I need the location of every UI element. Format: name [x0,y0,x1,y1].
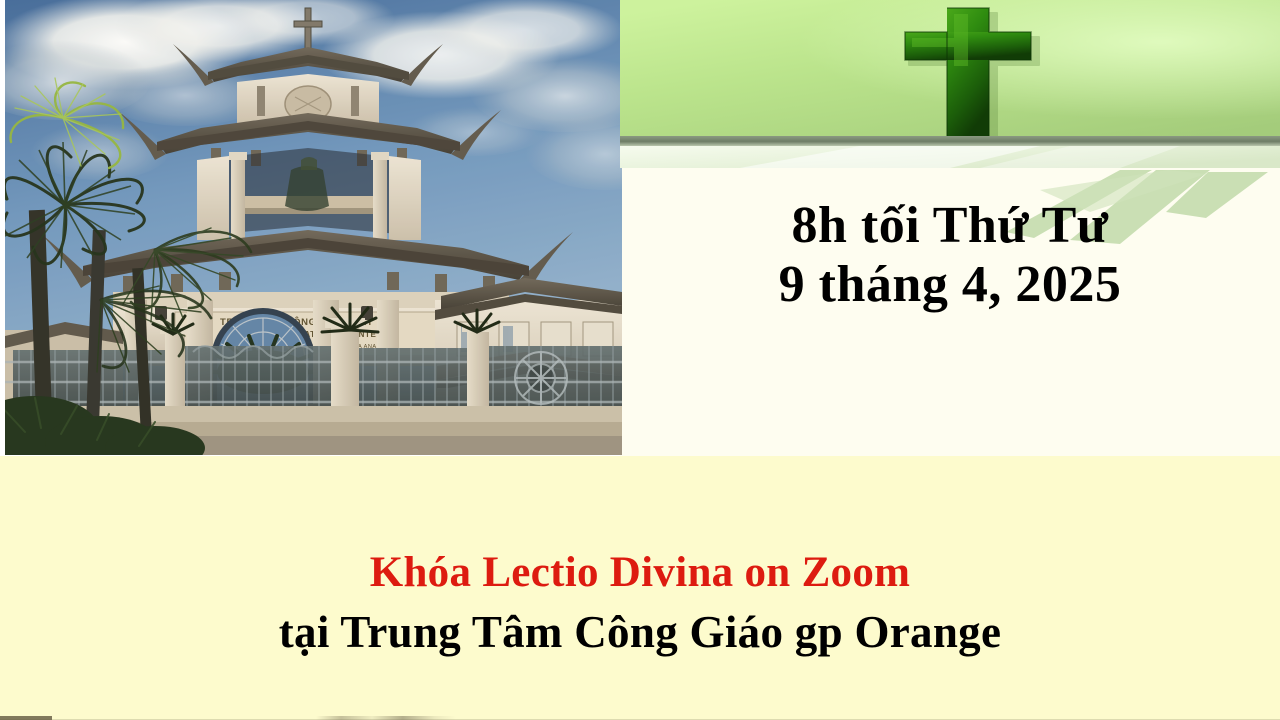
event-time-line: 8h tối Thứ Tư [620,196,1280,255]
presentation-slide: TRUNG TÂM CÔNG GIÁO VIỆT NAM VIETNAMESE … [0,0,1280,720]
event-datetime: 8h tối Thứ Tư 9 tháng 4, 2025 [620,196,1280,315]
event-title-secondary: tại Trung Tâm Công Giáo gp Orange [0,605,1280,659]
sliver-partial-text [316,716,456,720]
slide-bottom-edge-sliver [0,714,1280,720]
green-cross-banner [620,0,1280,168]
sliver-left-marker [0,716,52,720]
event-title-block: Khóa Lectio Divina on Zoom tại Trung Tâm… [0,548,1280,659]
event-title-primary: Khóa Lectio Divina on Zoom [0,548,1280,599]
event-date-line: 9 tháng 4, 2025 [620,255,1280,314]
vietnamese-catholic-center-gate-photo: TRUNG TÂM CÔNG GIÁO VIỆT NAM VIETNAMESE … [5,0,622,455]
